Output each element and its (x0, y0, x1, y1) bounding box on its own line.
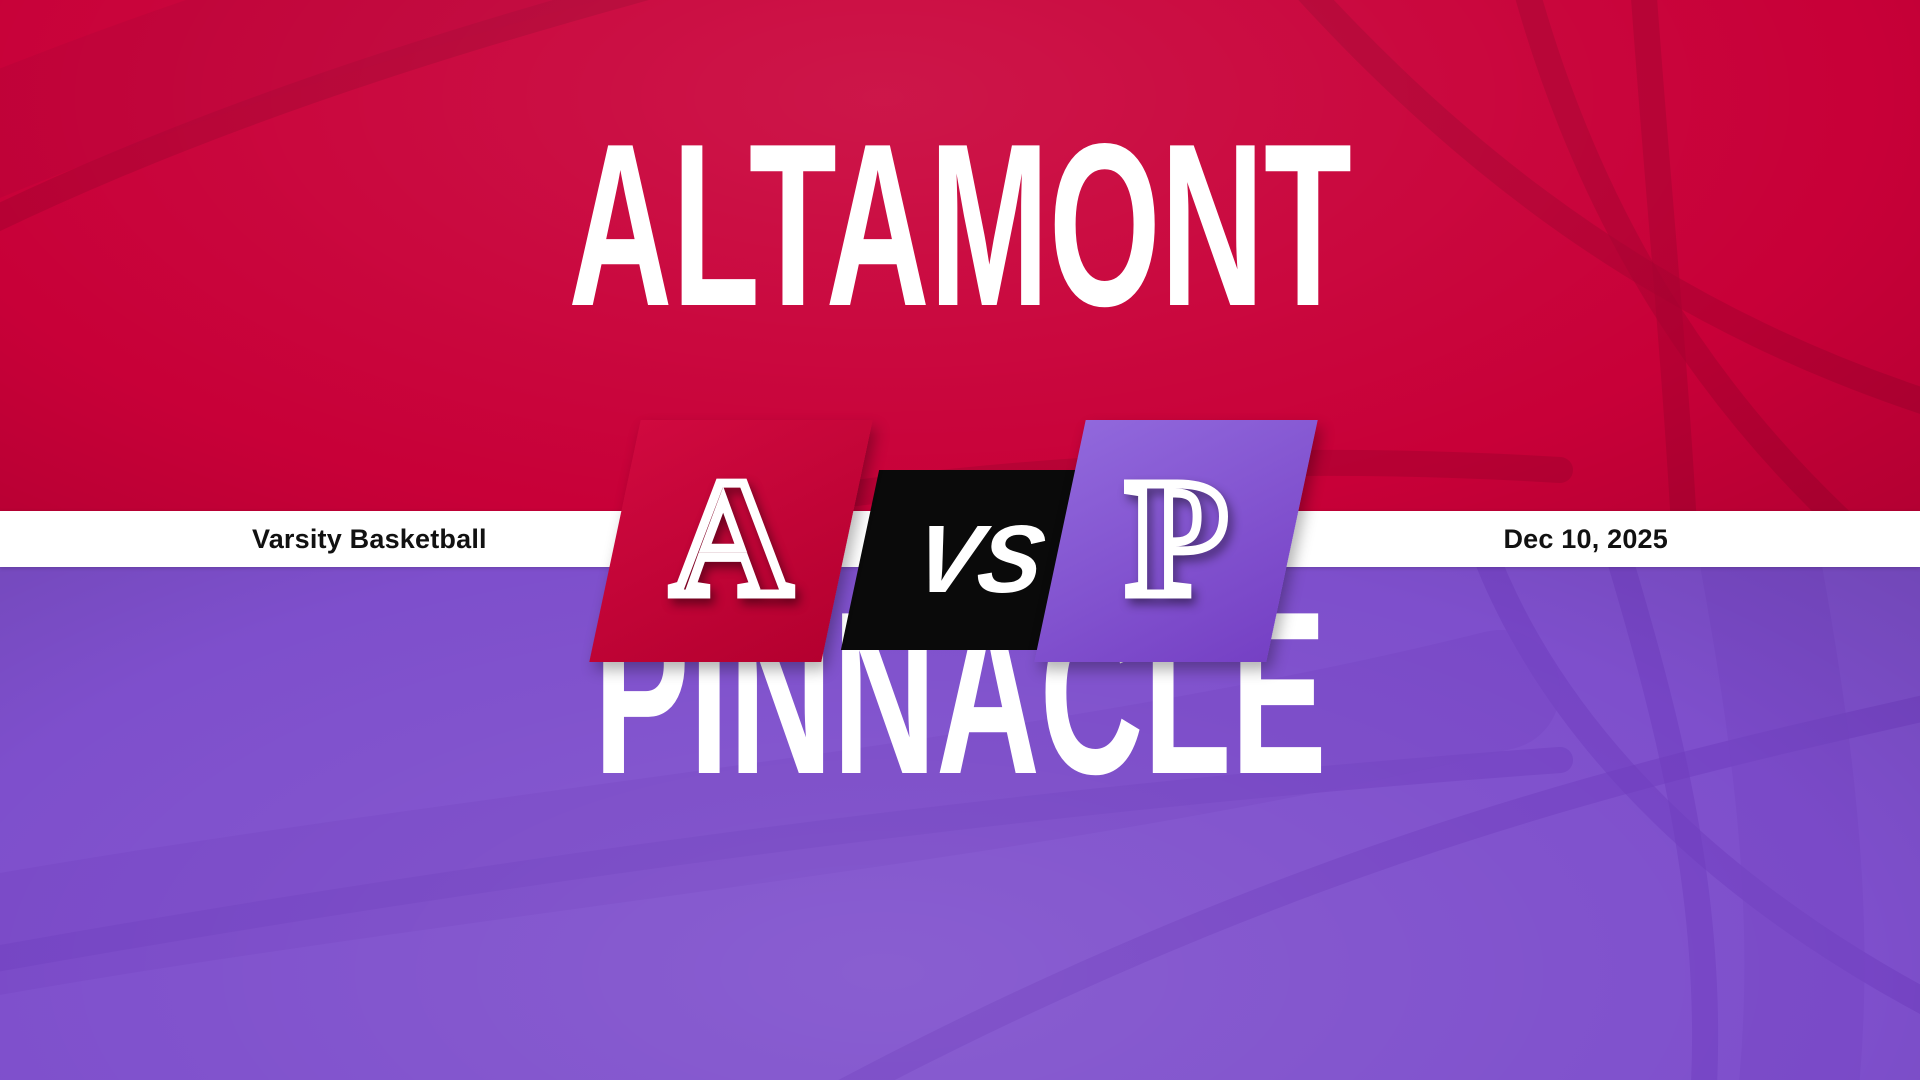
sport-label: Varsity Basketball (252, 511, 487, 567)
vs-label: VS (908, 512, 1049, 608)
away-team-initial: P (1125, 454, 1228, 622)
game-date: Dec 10, 2025 (1503, 511, 1668, 567)
matchup-graphic: ALTAMONT PINNACLE Varsity Basketball Dec… (0, 0, 1920, 1080)
home-team-name: ALTAMONT (365, 110, 1555, 342)
home-team-initial: A (671, 454, 792, 622)
